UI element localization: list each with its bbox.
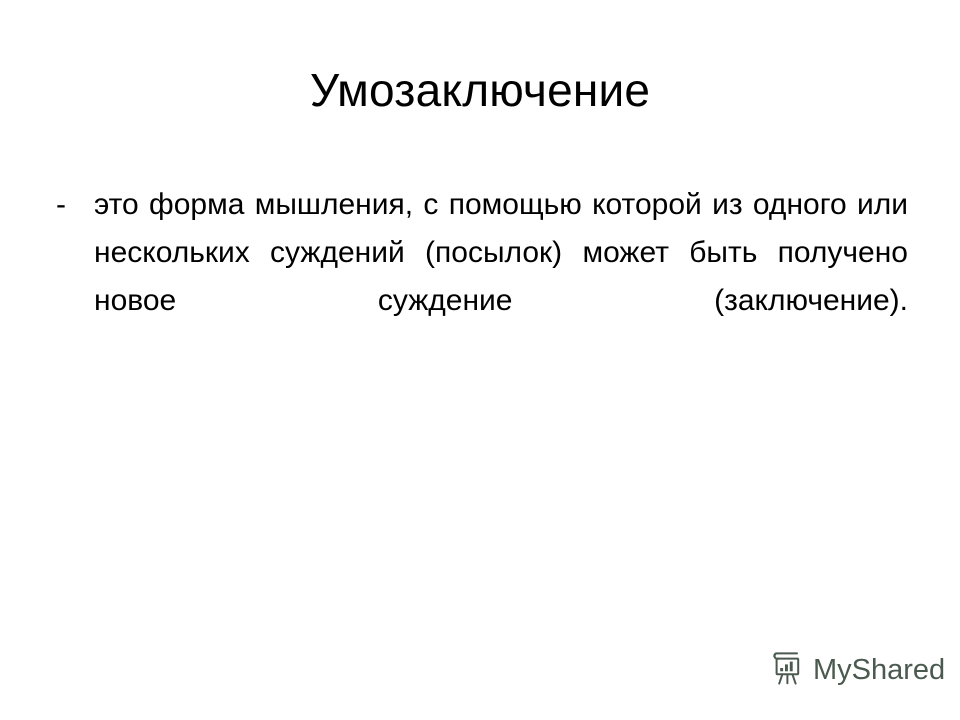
slide-body: -это форма мышления, с помощью которой и…	[56, 181, 908, 373]
bullet-dash-marker: -	[56, 181, 94, 229]
page-title: Умозаключение	[0, 62, 960, 118]
body-paragraph: -это форма мышления, с помощью которой и…	[56, 181, 908, 373]
myshared-watermark: MyShared	[770, 652, 945, 688]
presentation-slide: Умозаключение -это форма мышления, с пом…	[0, 0, 960, 720]
watermark-label: MyShared	[813, 654, 945, 686]
body-text: это форма мышления, с помощью которой из…	[94, 188, 908, 317]
flipchart-bar-chart-icon	[770, 652, 804, 688]
